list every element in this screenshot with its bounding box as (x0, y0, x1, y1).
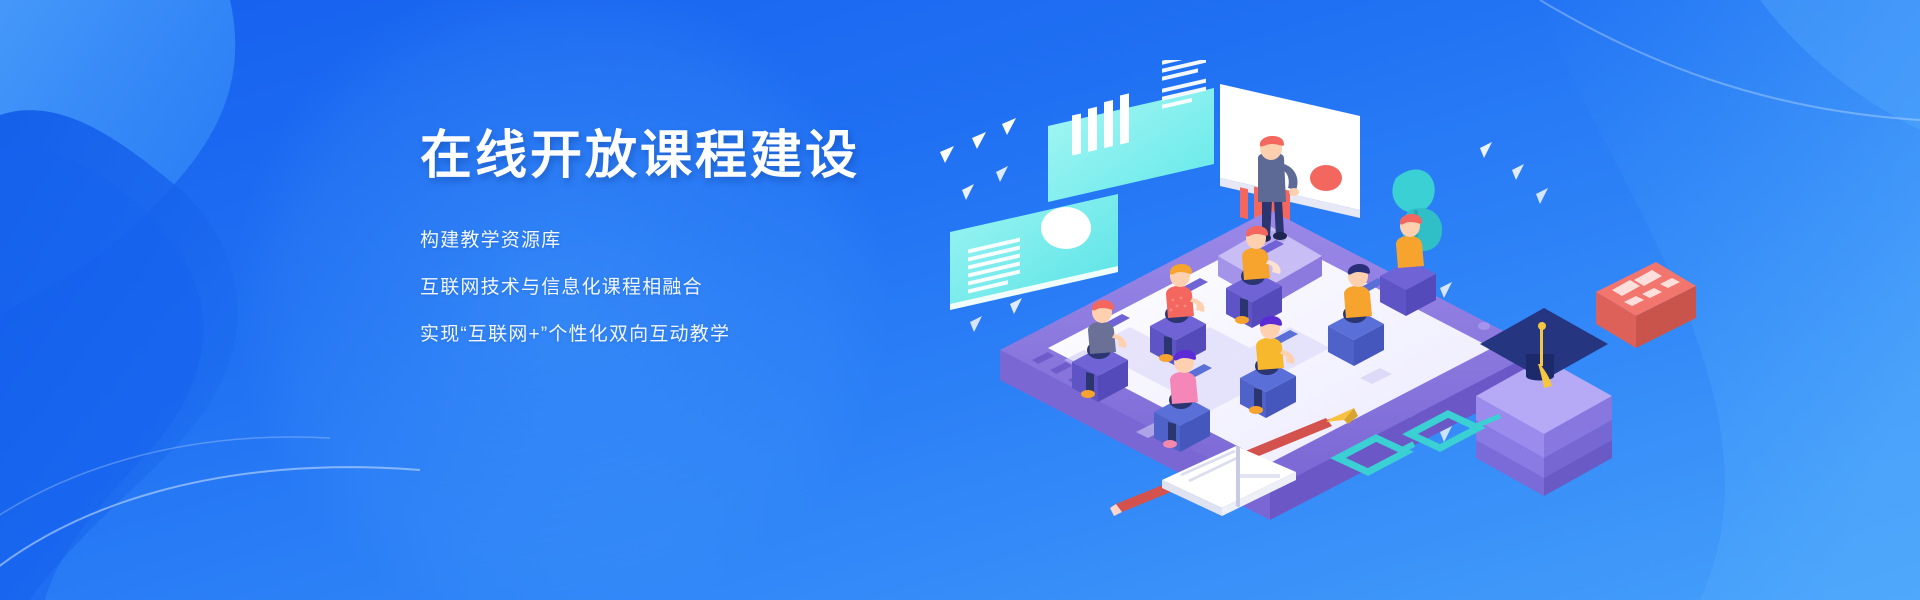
page-title: 在线开放课程建设 (420, 128, 1040, 185)
subtitle-line-3: 实现“互联网+”个性化双向互动教学 (420, 325, 1040, 344)
subtitle-line-1: 构建教学资源库 (420, 231, 1040, 250)
subtitle-list: 构建教学资源库 互联网技术与信息化课程相融合 实现“互联网+”个性化双向互动教学 (420, 231, 1040, 344)
banner-hero: 在线开放课程建设 构建教学资源库 互联网技术与信息化课程相融合 实现“互联网+”… (0, 0, 1920, 600)
calculator-icon (1596, 262, 1696, 348)
hero-text-block: 在线开放课程建设 构建教学资源库 互联网技术与信息化课程相融合 实现“互联网+”… (420, 128, 1040, 344)
subtitle-line-2: 互联网技术与信息化课程相融合 (420, 278, 1040, 297)
floating-screen-bar-chart (1048, 60, 1214, 202)
isometric-classroom-illustration (940, 60, 1720, 560)
